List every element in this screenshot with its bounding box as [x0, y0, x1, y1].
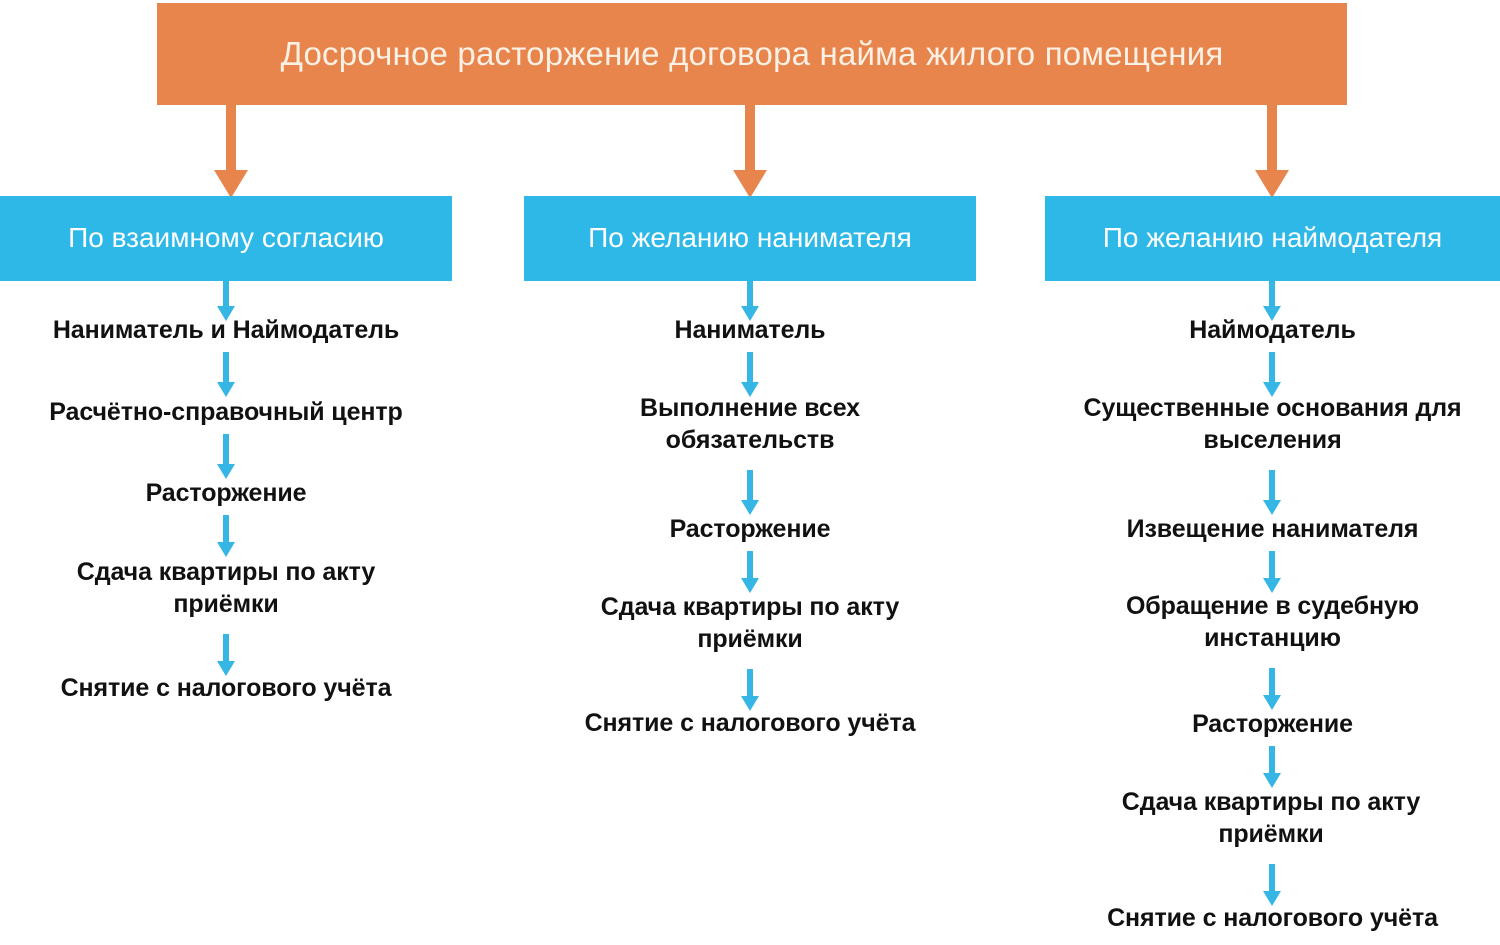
- flowchart-diagram: Досрочное расторжение договора найма жил…: [0, 0, 1500, 945]
- branch-header-label: По взаимному согласию: [68, 223, 384, 254]
- diagram-title-text: Досрочное расторжение договора найма жил…: [281, 36, 1224, 72]
- arrow-stem: [747, 352, 753, 382]
- arrow-col3-step6-to-step7: [1263, 864, 1281, 906]
- arrow-head: [1255, 170, 1289, 198]
- arrow-stem: [1269, 864, 1275, 891]
- arrow-head: [733, 170, 767, 198]
- arrow-stem: [1269, 352, 1275, 382]
- branch-header-label: По желанию нанимателя: [588, 223, 912, 254]
- arrow-root-to-branch-1: [214, 103, 248, 198]
- step-col3-3: Извещение нанимателя: [1045, 513, 1500, 545]
- step-col3-2: Существенные основания для выселения: [1060, 392, 1485, 456]
- arrow-head: [217, 382, 235, 397]
- branch-header-landlord-initiative[interactable]: По желанию наймодателя: [1045, 196, 1500, 281]
- step-col1-1: Наниматель и Наймодатель: [0, 314, 452, 346]
- arrow-col2-step3-to-step4: [741, 551, 759, 593]
- arrow-col1-step3-to-step4: [217, 515, 235, 557]
- step-col3-5: Расторжение: [1045, 708, 1500, 740]
- arrow-stem: [1269, 470, 1275, 500]
- arrow-col1-step4-to-step5: [217, 634, 235, 676]
- arrow-head: [214, 170, 248, 198]
- arrow-stem: [223, 634, 229, 661]
- step-col3-6: Сдача квартиры по акту приёмки: [1085, 786, 1457, 850]
- step-col1-4: Сдача квартиры по акту приёмки: [40, 556, 412, 620]
- arrow-col2-step2-to-step3: [741, 470, 759, 515]
- step-col2-5: Снятие с налогового учёта: [524, 707, 976, 739]
- arrow-stem: [223, 281, 229, 306]
- arrow-col3-step5-to-step6: [1263, 746, 1281, 788]
- arrow-col1-step1-to-step2: [217, 352, 235, 397]
- arrow-stem: [747, 470, 753, 500]
- arrow-stem: [1267, 103, 1277, 170]
- arrow-stem: [1269, 668, 1275, 695]
- step-col3-7: Снятие с налогового учёта: [1045, 902, 1500, 934]
- step-col1-2: Расчётно-справочный центр: [0, 396, 452, 428]
- step-col2-3: Расторжение: [524, 513, 976, 545]
- arrow-stem: [747, 669, 753, 696]
- step-col2-4: Сдача квартиры по акту приёмки: [564, 591, 936, 655]
- step-col1-5: Снятие с налогового учёта: [0, 672, 452, 704]
- branch-header-tenant-initiative[interactable]: По желанию нанимателя: [524, 196, 976, 281]
- step-col2-1: Наниматель: [524, 314, 976, 346]
- arrow-stem: [223, 515, 229, 542]
- arrow-stem: [1269, 746, 1275, 773]
- arrow-col3-step3-to-step4: [1263, 551, 1281, 593]
- arrow-stem: [223, 434, 229, 464]
- arrow-stem: [1269, 551, 1275, 578]
- arrow-head: [217, 542, 235, 557]
- arrow-col3-step1-to-step2: [1263, 352, 1281, 397]
- arrow-col3-step2-to-step3: [1263, 470, 1281, 515]
- arrow-stem: [747, 281, 753, 306]
- arrow-stem: [747, 551, 753, 578]
- branch-header-label: По желанию наймодателя: [1103, 223, 1442, 254]
- step-col3-4: Обращение в судебную инстанцию: [1075, 590, 1470, 654]
- branch-header-mutual-consent[interactable]: По взаимному согласию: [0, 196, 452, 281]
- arrow-root-to-branch-3: [1255, 103, 1289, 198]
- arrow-stem: [745, 103, 755, 170]
- arrow-col2-step1-to-step2: [741, 352, 759, 397]
- step-col2-2: Выполнение всех обязательств: [590, 392, 910, 456]
- step-col3-1: Наймодатель: [1045, 314, 1500, 346]
- arrow-stem: [1269, 281, 1275, 306]
- arrow-root-to-branch-2: [733, 103, 767, 198]
- arrow-stem: [223, 352, 229, 382]
- step-col1-3: Расторжение: [0, 477, 452, 509]
- arrow-col2-step4-to-step5: [741, 669, 759, 711]
- arrow-col3-step4-to-step5: [1263, 668, 1281, 710]
- arrow-col1-step2-to-step3: [217, 434, 235, 479]
- diagram-title-banner: Досрочное расторжение договора найма жил…: [157, 3, 1347, 105]
- arrow-stem: [226, 103, 236, 170]
